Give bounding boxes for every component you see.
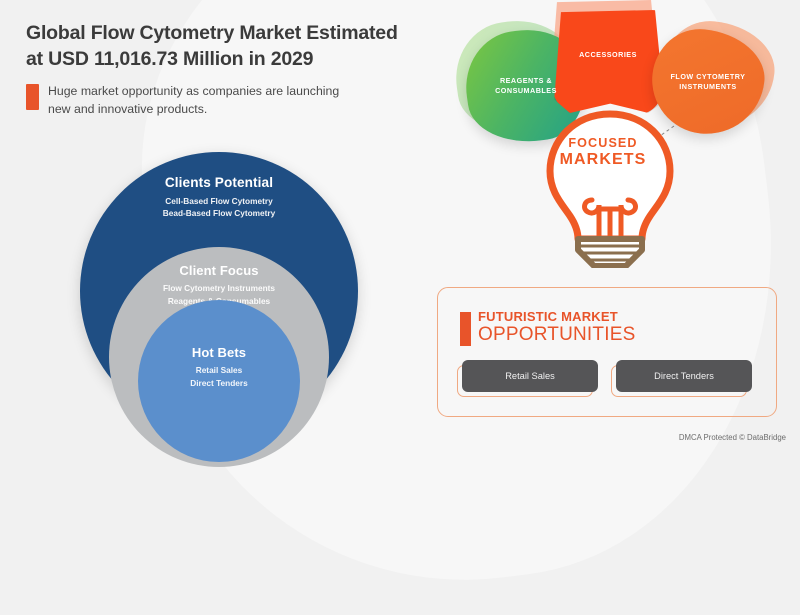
panel-button-row: Retail Sales Direct Tenders (462, 360, 776, 392)
circle-middle-heading: Client Focus (179, 264, 258, 278)
title-line-2: at USD 11,016.73 Million in 2029 (26, 48, 313, 70)
panel-title-line-1: FUTURISTIC MARKET (478, 310, 635, 324)
panel-heading: FUTURISTIC MARKET OPPORTUNITIES (460, 310, 776, 346)
retail-sales-button-wrap: Retail Sales (462, 360, 598, 392)
futuristic-market-opportunities-panel: FUTURISTIC MARKET OPPORTUNITIES Retail S… (437, 287, 777, 417)
dmca-footer: DMCA Protected © DataBridge (679, 433, 786, 442)
segment-label-line-1: REAGENTS & (500, 76, 552, 85)
infographic-canvas: Global Flow Cytometry Market Estimated a… (0, 0, 800, 450)
page-subtitle: Huge market opportunity as companies are… (48, 83, 348, 118)
focused-markets-diagram: REAGENTS &CONSUMABLES ACCESSORIES FLOW C… (452, 8, 792, 270)
concentric-circles-diagram: Clients Potential Cell-Based Flow Cytome… (80, 152, 360, 434)
page-title: Global Flow Cytometry Market Estimated a… (26, 20, 426, 72)
circle-inner-item-0: Retail Sales (196, 364, 243, 376)
circle-outer-heading: Clients Potential (165, 176, 273, 191)
segment-label-line-1: ACCESSORIES (579, 50, 637, 59)
panel-title-line-2: OPPORTUNITIES (478, 325, 635, 345)
segment-label-line-2: INSTRUMENTS (679, 82, 736, 91)
direct-tenders-button-wrap: Direct Tenders (616, 360, 752, 392)
circle-inner-item-1: Direct Tenders (190, 377, 247, 389)
header: Global Flow Cytometry Market Estimated a… (26, 20, 426, 118)
circle-outer-item-0: Cell-Based Flow Cytometry (165, 195, 272, 207)
direct-tenders-button[interactable]: Direct Tenders (616, 360, 752, 392)
segment-accessories[interactable]: ACCESSORIES (552, 10, 664, 114)
segment-label: FLOW CYTOMETRYINSTRUMENTS (665, 72, 752, 93)
retail-sales-button[interactable]: Retail Sales (462, 360, 598, 392)
circle-middle-item-0: Flow Cytometry Instruments (163, 282, 275, 294)
title-line-1: Global Flow Cytometry Market Estimated (26, 22, 398, 44)
segment-shape (552, 10, 664, 114)
circle-hot-bets: Hot Bets Retail Sales Direct Tenders (138, 300, 300, 462)
panel-accent-bar-icon (460, 312, 471, 346)
circle-inner-heading: Hot Bets (192, 346, 246, 360)
segment-label-line-1: FLOW CYTOMETRY (671, 72, 746, 81)
segment-label: ACCESSORIES (573, 50, 643, 60)
circle-outer-item-1: Bead-Based Flow Cytometry (163, 207, 276, 219)
panel-title-block: FUTURISTIC MARKET OPPORTUNITIES (478, 310, 635, 345)
segment-label-line-2: CONSUMABLES (495, 86, 557, 95)
accent-bar-icon (26, 84, 39, 110)
subtitle-row: Huge market opportunity as companies are… (26, 83, 426, 118)
segment-label: REAGENTS &CONSUMABLES (489, 76, 563, 97)
lightbulb-icon (530, 108, 690, 268)
